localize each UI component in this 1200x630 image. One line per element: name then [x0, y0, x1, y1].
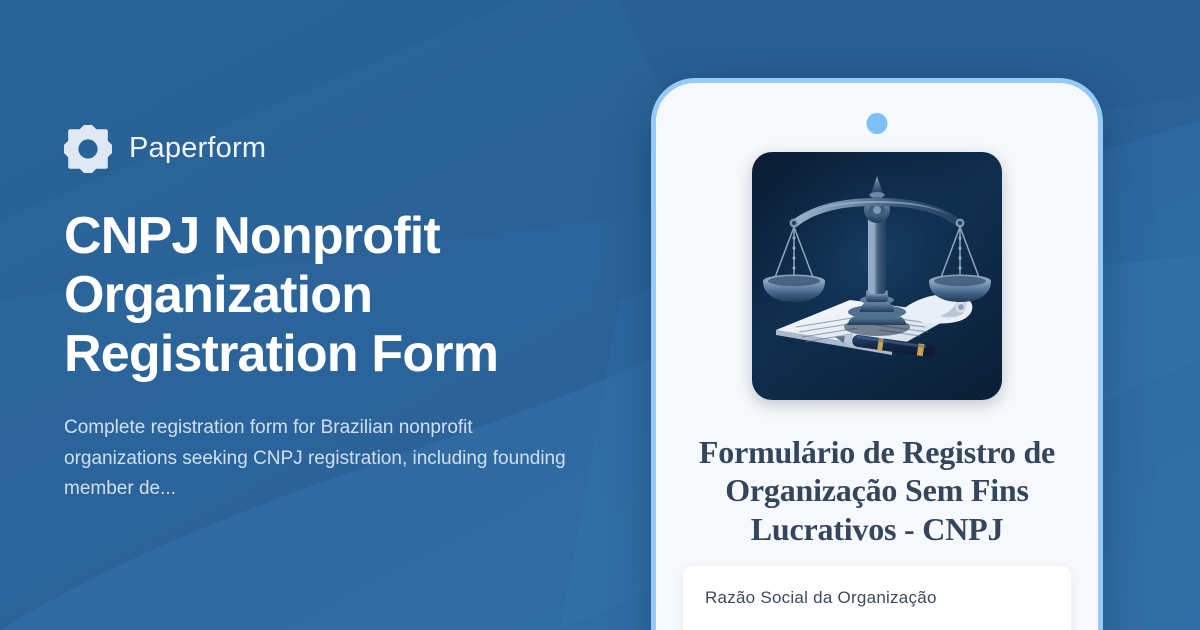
- hero-text-panel: Paperform CNPJ Nonprofit Organization Re…: [64, 0, 624, 630]
- brand-lockup: Paperform: [64, 125, 624, 173]
- form-hero-illustration: [752, 152, 1002, 400]
- phone-mockup: Formulário de Registro de Organização Se…: [651, 78, 1103, 630]
- camera-dot-icon: [867, 113, 888, 134]
- paperform-logo-icon: [64, 125, 112, 173]
- form-title: Formulário de Registro de Organização Se…: [680, 433, 1074, 548]
- form-field-card[interactable]: Razão Social da Organização: [683, 566, 1071, 630]
- page-description: Complete registration form for Brazilian…: [64, 413, 569, 505]
- og-preview-card: Paperform CNPJ Nonprofit Organization Re…: [0, 0, 1200, 630]
- brand-name: Paperform: [129, 132, 266, 165]
- page-title: CNPJ Nonprofit Organization Registration…: [64, 207, 534, 385]
- form-field-label: Razão Social da Organização: [705, 588, 937, 608]
